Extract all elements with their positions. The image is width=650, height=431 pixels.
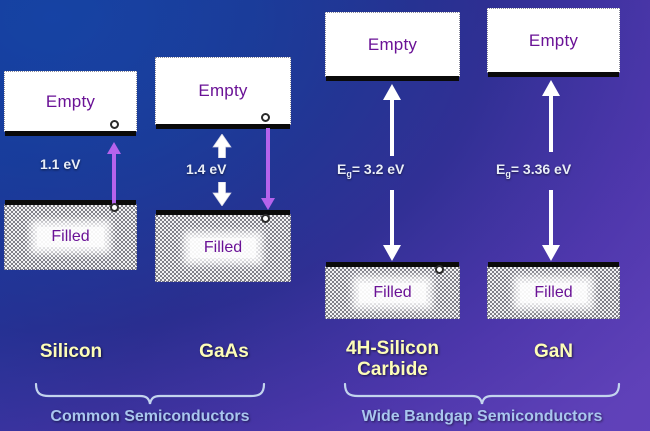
gan-gap-prefix: E [496,161,505,177]
silicon-filled-label: Filled [51,228,89,245]
sic-gap-arrow-up [383,84,401,156]
group-label-common: Common Semiconductors [10,408,290,426]
gan-conduction-band-edge [488,72,619,77]
gaas-empty-label: Empty [198,81,247,101]
material-name-gaas-line1: GaAs [163,341,285,362]
material-name-gan: GaN [487,341,620,362]
sic-empty-label: Empty [368,35,417,55]
silicon-conduction-band-edge [5,131,136,136]
gaas-recombination-arrow [261,128,275,210]
gaas-empty-band: Empty [155,57,291,125]
gan-gap-subscript: g [505,169,511,179]
sic-gap-prefix: E [337,161,346,177]
material-name-silicon: Silicon [10,341,132,362]
gan-filled-label: Filled [534,284,572,301]
material-name-sic: 4H-Silicon Carbide [325,338,460,380]
sic-filled-label-patch: Filled [359,283,425,303]
gan-gap-label: Eg= 3.36 eV [496,161,571,177]
gaas-filled-band: Filled [155,214,291,282]
material-name-sic-line2: Carbide [325,359,460,380]
sic-electron-lower [435,265,444,274]
material-name-gan-line1: GaN [487,341,620,362]
material-name-gaas: GaAs [163,341,285,362]
gaas-filled-label-patch: Filled [190,238,256,258]
silicon-gap-label: 1.1 eV [40,156,80,172]
gan-filled-label-patch: Filled [520,283,586,303]
silicon-electron-upper [110,120,119,129]
sic-gap-subscript: g [346,169,352,179]
gan-empty-label: Empty [529,31,578,51]
gaas-electron-upper [261,113,270,122]
gaas-valence-band-edge [156,210,290,215]
group-label-wide-text: Wide Bandgap Semiconductors [362,408,603,425]
sic-empty-band: Empty [325,12,460,77]
silicon-gap-value: 1.1 eV [40,156,80,172]
silicon-filled-band: Filled [4,204,137,270]
brace-common-semiconductors [33,383,267,405]
sic-gap-label: Eg= 3.2 eV [337,161,404,177]
gaas-electron-lower [261,214,270,223]
gan-valence-band-edge [488,262,619,267]
brace-wide-bandgap-semiconductors [342,383,622,405]
sic-conduction-band-edge [326,76,459,81]
gaas-filled-label: Filled [204,239,242,256]
sic-gap-value: = 3.2 eV [352,161,405,177]
band-gap-diagram: Empty 1.1 eV Filled Silicon Empty [0,0,650,431]
sic-filled-label: Filled [373,284,411,301]
gaas-gap-arrow-down [211,182,233,206]
group-label-wide-bandgap: Wide Bandgap Semiconductors [332,408,632,426]
gan-gap-arrow-up [542,80,560,152]
gan-gap-value: = 3.36 eV [511,161,571,177]
material-name-sic-line1: 4H-Silicon [325,338,460,359]
sic-gap-arrow-down [383,190,401,261]
group-label-common-text: Common Semiconductors [50,408,249,425]
silicon-transition-arrow [107,142,121,208]
silicon-electron-lower [110,203,119,212]
gaas-gap-arrow-up [211,134,233,158]
gaas-gap-value: 1.4 eV [186,161,226,177]
gan-empty-band: Empty [487,8,620,73]
silicon-filled-label-patch: Filled [37,227,103,247]
material-name-silicon-line1: Silicon [10,341,132,362]
gan-filled-band: Filled [487,266,620,319]
gaas-gap-label: 1.4 eV [186,161,226,177]
silicon-empty-label: Empty [46,92,95,112]
gan-gap-arrow-down [542,190,560,261]
